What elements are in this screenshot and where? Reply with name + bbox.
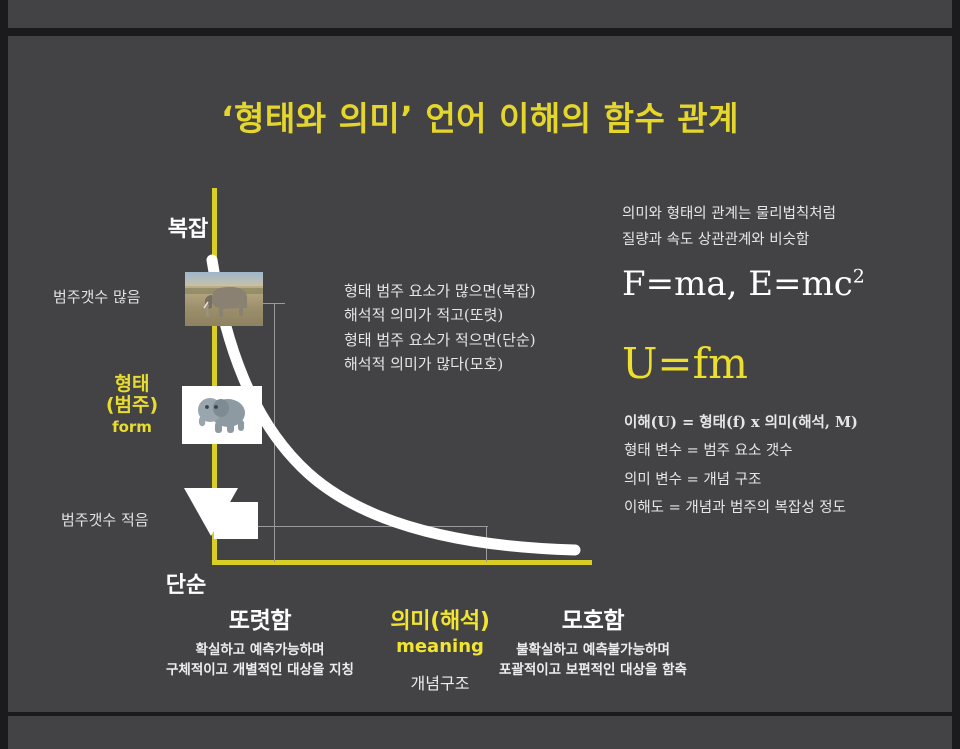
slide-viewport: ‘형태와 의미’ 언어 이해의 함수 관계 복잡 단순 범주갯수 많음 범주갯수… xyxy=(0,0,960,749)
chart-area: 복잡 단순 범주갯수 많음 범주갯수 적음 형태 (범주) form xyxy=(8,36,952,712)
previous-slide-sliver[interactable] xyxy=(8,0,952,28)
x-axis-right-sub-line2: 포괄적이고 보편적인 대상을 함축 xyxy=(499,662,687,678)
x-axis-right-sub-line1: 불확실하고 예측불가능하며 xyxy=(516,642,670,658)
definition-line-3: 의미 변수 = 개념 구조 xyxy=(624,466,858,494)
definition-line-1: 이해(U) = 형태(f) x 의미(해석, M) xyxy=(624,409,858,437)
main-formula: U=fm xyxy=(622,339,748,388)
square-marker xyxy=(214,502,258,539)
y-axis-caption-en: form xyxy=(86,419,178,436)
definition-line-4: 이해도 = 개념과 범주의 복잡성 정도 xyxy=(624,494,858,522)
x-axis-right-caption: 모호함 불확실하고 예측불가능하며 포괄적이고 보편적인 대상을 함축 xyxy=(478,601,708,680)
x-axis-left-sub: 확실하고 예측가능하며 구체적이고 개별적인 대상을 지칭 xyxy=(160,641,360,680)
x-axis-left-sub-line1: 확실하고 예측가능하며 xyxy=(196,642,325,658)
x-axis-left-caption: 또렷함 확실하고 예측가능하며 구체적이고 개별적인 대상을 지칭 xyxy=(160,601,360,680)
elephant-photo-icon xyxy=(199,286,251,320)
x-axis-left-label: 또렷함 xyxy=(160,601,360,635)
physics-formula-exponent: 2 xyxy=(853,266,865,288)
chart-annotations: 형태 범주 요소가 많으면(복잡) 해석적 의미가 적고(또렷) 형태 범주 요… xyxy=(344,279,536,376)
physics-formula-text: F=ma, E=mc xyxy=(622,264,853,304)
photo-sky xyxy=(185,272,263,287)
elephant-cartoon-marker xyxy=(182,386,262,444)
annotation-line-3: 형태 범주 요소가 적으면(단순) xyxy=(344,328,536,352)
next-slide-sliver[interactable] xyxy=(8,716,952,749)
y-axis-top-label: 복잡 xyxy=(148,211,228,243)
x-axis-left-sub-line2: 구체적이고 개별적인 대상을 지칭 xyxy=(166,662,354,678)
right-intro-text: 의미와 형태의 관계는 물리법칙처럼 질량과 속도 상관관계와 비슷함 xyxy=(622,202,836,254)
definition-line-2: 형태 변수 = 범주 요소 갯수 xyxy=(624,437,858,465)
slide-canvas: ‘형태와 의미’ 언어 이해의 함수 관계 복잡 단순 범주갯수 많음 범주갯수… xyxy=(8,36,952,712)
annotation-line-2: 해석적 의미가 적고(또렷) xyxy=(344,303,536,327)
x-axis-right-sub: 불확실하고 예측불가능하며 포괄적이고 보편적인 대상을 함축 xyxy=(478,641,708,680)
y-axis-caption: 형태 (범주) form xyxy=(86,374,178,435)
elephant-photo-marker xyxy=(185,272,263,326)
annotation-line-4: 해석적 의미가 많다(모호) xyxy=(344,352,536,376)
y-axis-caption-line1: 형태 xyxy=(86,374,178,395)
y-axis-bottom-note: 범주갯수 적음 xyxy=(61,509,201,530)
y-axis-bottom-label: 단순 xyxy=(146,567,226,599)
x-axis-right-label: 모호함 xyxy=(478,601,708,635)
right-intro-line2: 질량과 속도 상관관계와 비슷함 xyxy=(622,228,836,254)
physics-formula: F=ma, E=mc2 xyxy=(622,264,865,304)
y-axis-top-note: 범주갯수 많음 xyxy=(53,286,193,307)
right-definitions: 이해(U) = 형태(f) x 의미(해석, M) 형태 변수 = 범주 요소 … xyxy=(624,409,858,522)
elephant-cartoon-icon xyxy=(195,393,249,437)
annotation-line-1: 형태 범주 요소가 많으면(복잡) xyxy=(344,279,536,303)
y-axis-caption-line2: (범주) xyxy=(86,395,178,416)
right-intro-line1: 의미와 형태의 관계는 물리법칙처럼 xyxy=(622,202,836,228)
